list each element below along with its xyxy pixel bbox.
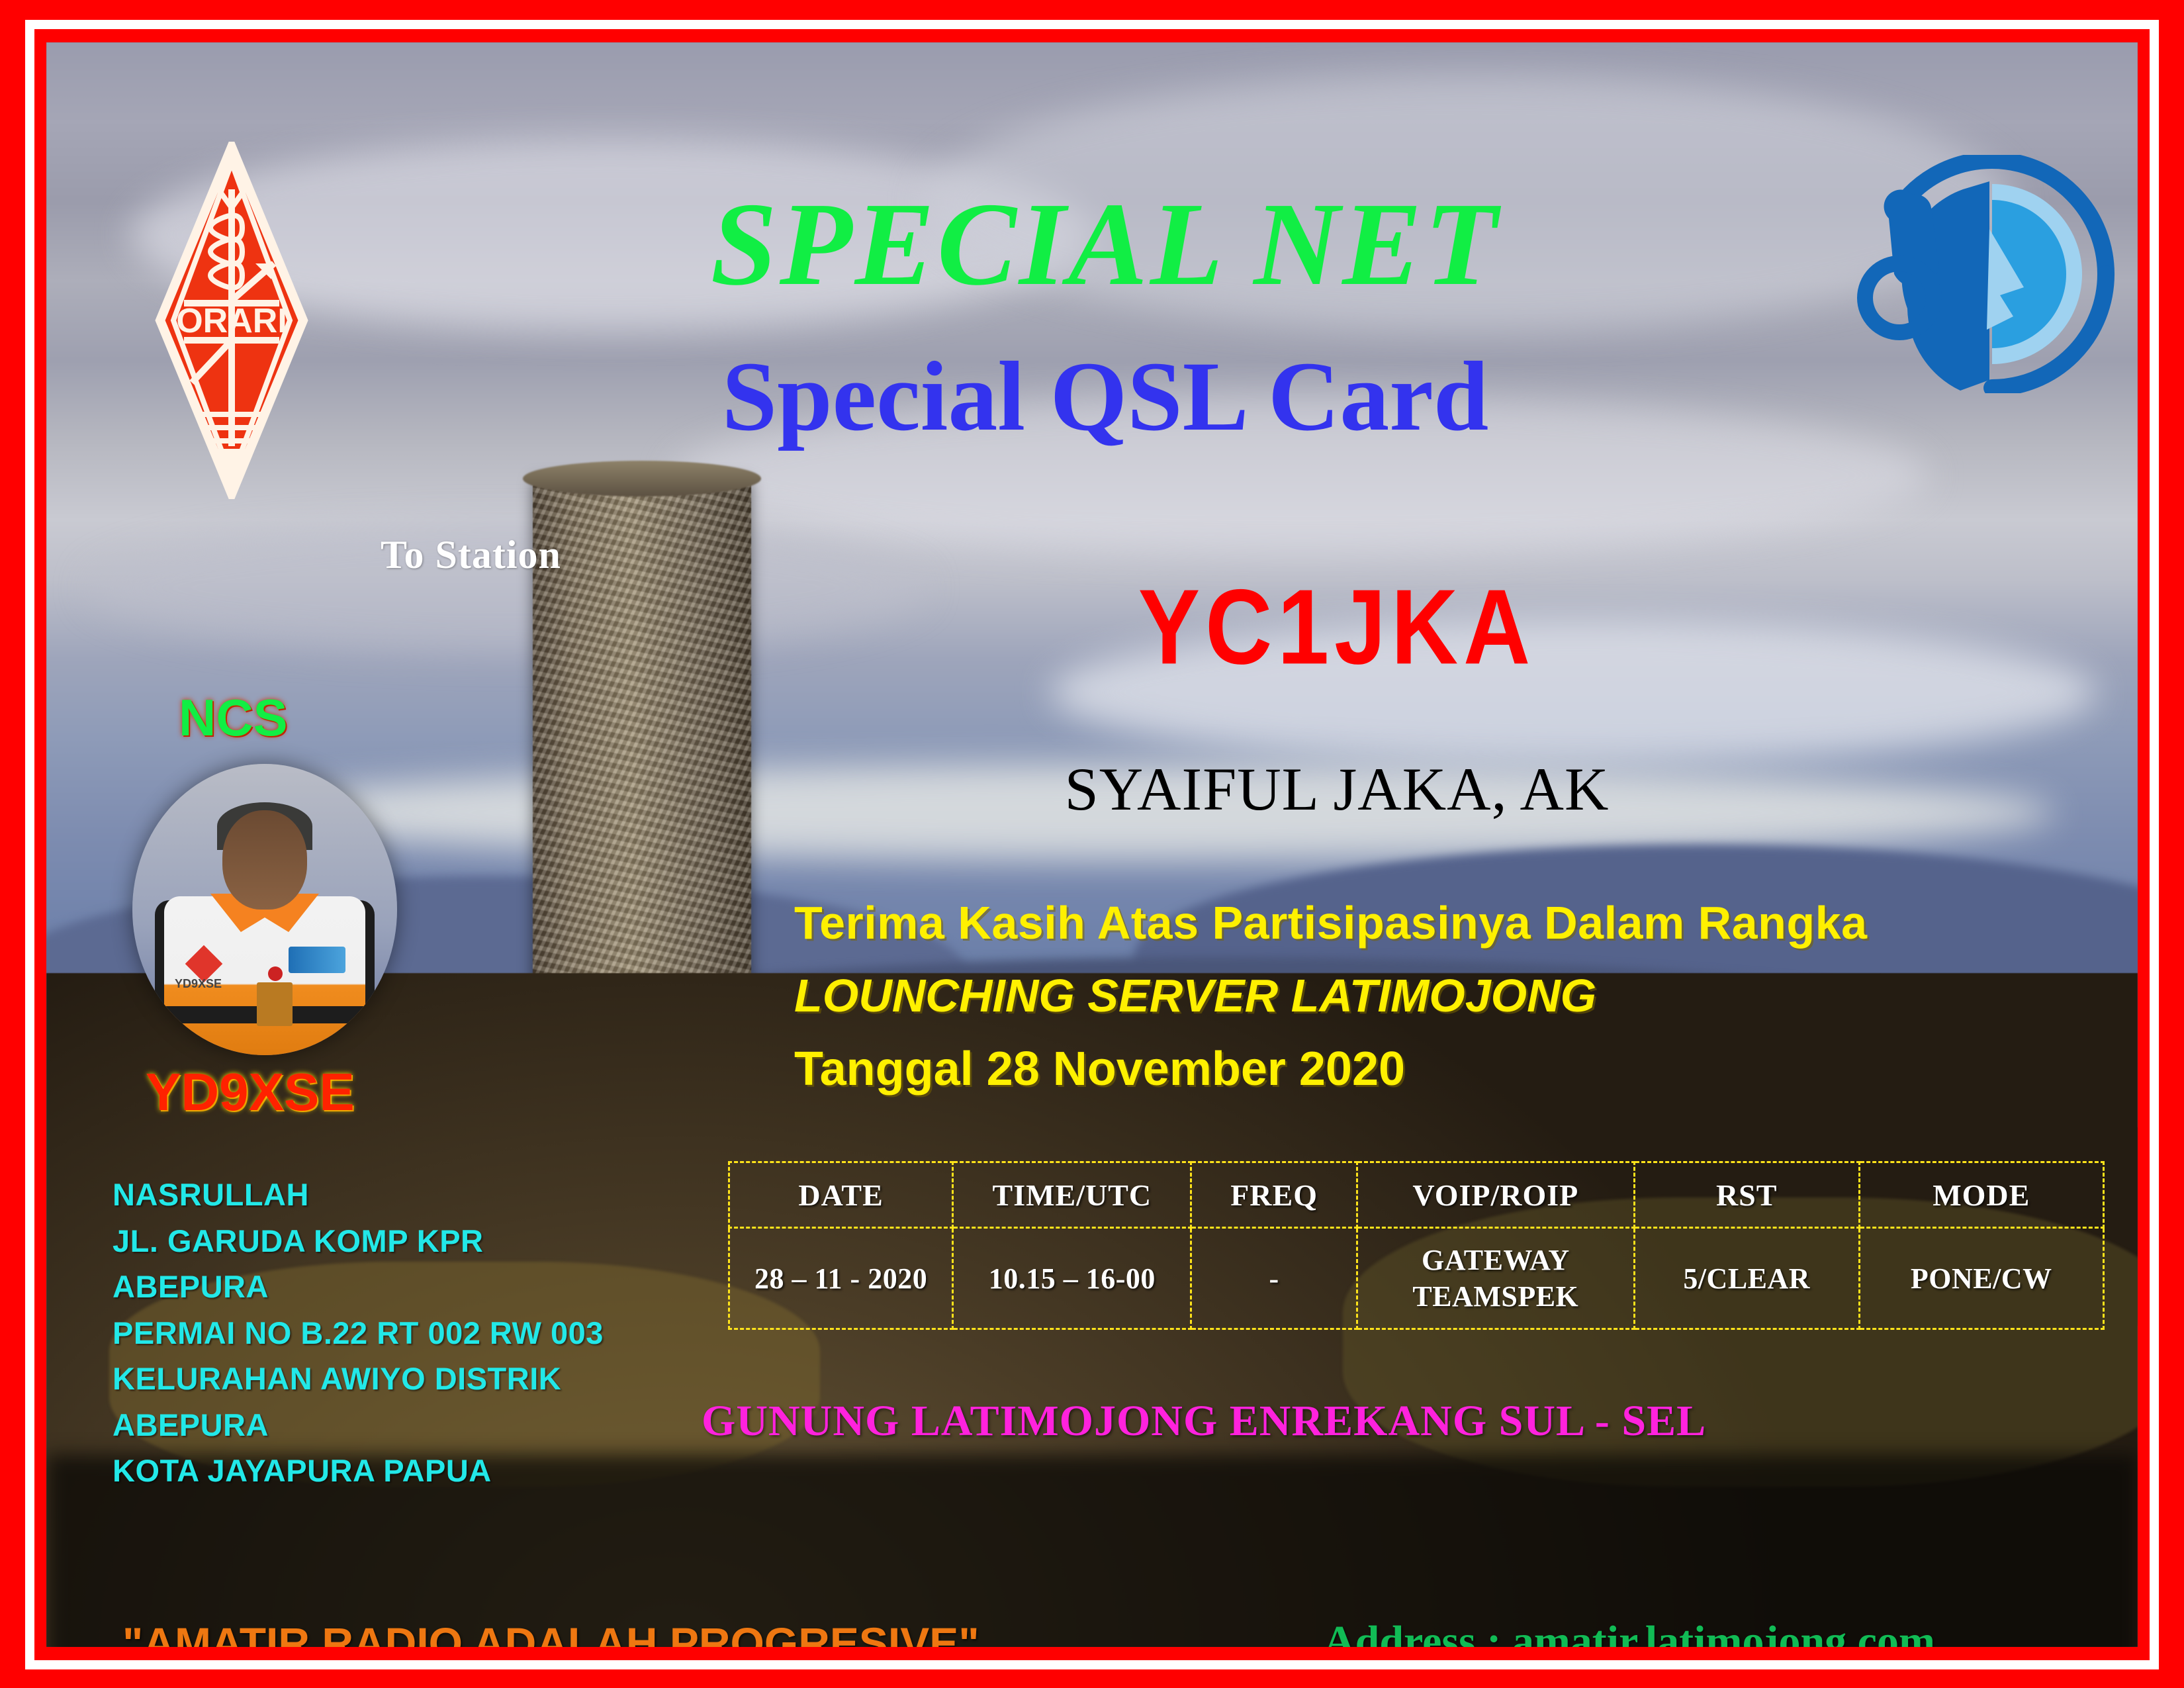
- operator-avatar: YD9XSE: [132, 764, 397, 1055]
- card-photo-area: ORARI: [46, 42, 2138, 1647]
- avatar-emblem-icon: [289, 947, 345, 973]
- thanks-line: Terima Kasih Atas Partisipasinya Dalam R…: [794, 896, 2118, 949]
- avatar-uniform-callsign: YD9XSE: [175, 977, 222, 991]
- cell-date: 28 – 11 - 2020: [729, 1228, 953, 1329]
- avatar-id-card: [257, 982, 293, 1026]
- address-line: KELURAHAN AWIYO DISTRIK: [113, 1356, 604, 1402]
- website-address: Address : amatir.latimojong.com: [1324, 1617, 1935, 1647]
- address-line: PERMAI NO B.22 RT 002 RW 003: [113, 1310, 604, 1356]
- location-line: GUNUNG LATIMOJONG ENREKANG SUL - SEL: [702, 1396, 1706, 1446]
- cell-freq: -: [1191, 1228, 1357, 1329]
- address-line: KOTA JAYAPURA PAPUA: [113, 1448, 604, 1494]
- table-header-row: DATE TIME/UTC FREQ VOIP/ROIP RST MODE: [729, 1162, 2104, 1228]
- station-callsign: YC1JKA: [841, 565, 1833, 688]
- qso-log-table: DATE TIME/UTC FREQ VOIP/ROIP RST MODE 28…: [728, 1161, 2105, 1330]
- avatar-uniform: [164, 896, 365, 1055]
- column-header-date: DATE: [729, 1162, 953, 1228]
- cell-mode: PONE/CW: [1859, 1228, 2103, 1329]
- address-line: JL. GARUDA KOMP KPR: [113, 1218, 604, 1264]
- avatar-face: [222, 810, 307, 910]
- orari-logo: ORARI: [152, 142, 311, 499]
- cell-voip-roip: GATEWAY TEAMSPEK: [1357, 1228, 1634, 1329]
- address-line: ABEPURA: [113, 1264, 604, 1310]
- orari-logo-text: ORARI: [176, 302, 287, 340]
- ncs-callsign: YD9XSE: [146, 1062, 355, 1123]
- event-line: LOUNCHING SERVER LATIMOJONG: [794, 969, 2118, 1022]
- event-date-line: Tanggal 28 November 2020: [794, 1042, 2118, 1096]
- cell-time: 10.15 – 16-00: [953, 1228, 1191, 1329]
- avatar-id-clip-icon: [268, 966, 283, 981]
- operator-name: SYAIFUL JAKA, AK: [841, 754, 1833, 824]
- cell-rst: 5/CLEAR: [1634, 1228, 1859, 1329]
- column-header-time: TIME/UTC: [953, 1162, 1191, 1228]
- page-subtitle-qsl-card: Special QSL Card: [470, 347, 1741, 446]
- table-row: 28 – 11 - 2020 10.15 – 16-00 - GATEWAY T…: [729, 1228, 2104, 1329]
- qsl-card: ORARI: [0, 0, 2184, 1688]
- column-header-voip: VOIP/ROIP: [1357, 1162, 1634, 1228]
- column-header-rst: RST: [1634, 1162, 1859, 1228]
- to-station-label: To Station: [381, 532, 561, 578]
- page-title-special-net: SPECIAL NET: [470, 185, 1741, 304]
- headset-broadcast-icon: [1846, 155, 2138, 393]
- ncs-label: NCS: [179, 688, 288, 748]
- monument-cap: [523, 461, 761, 496]
- address-line: NASRULLAH: [113, 1172, 604, 1218]
- address-block: NASRULLAH JL. GARUDA KOMP KPR ABEPURA PE…: [113, 1172, 604, 1494]
- slogan-text: "AMATIR RADIO ADALAH PROGRESIVE": [122, 1618, 979, 1647]
- address-line: ABEPURA: [113, 1402, 604, 1448]
- frame-inner-red: ORARI: [34, 29, 2150, 1660]
- column-header-mode: MODE: [1859, 1162, 2103, 1228]
- frame-white-gap: ORARI: [25, 20, 2159, 1669]
- column-header-freq: FREQ: [1191, 1162, 1357, 1228]
